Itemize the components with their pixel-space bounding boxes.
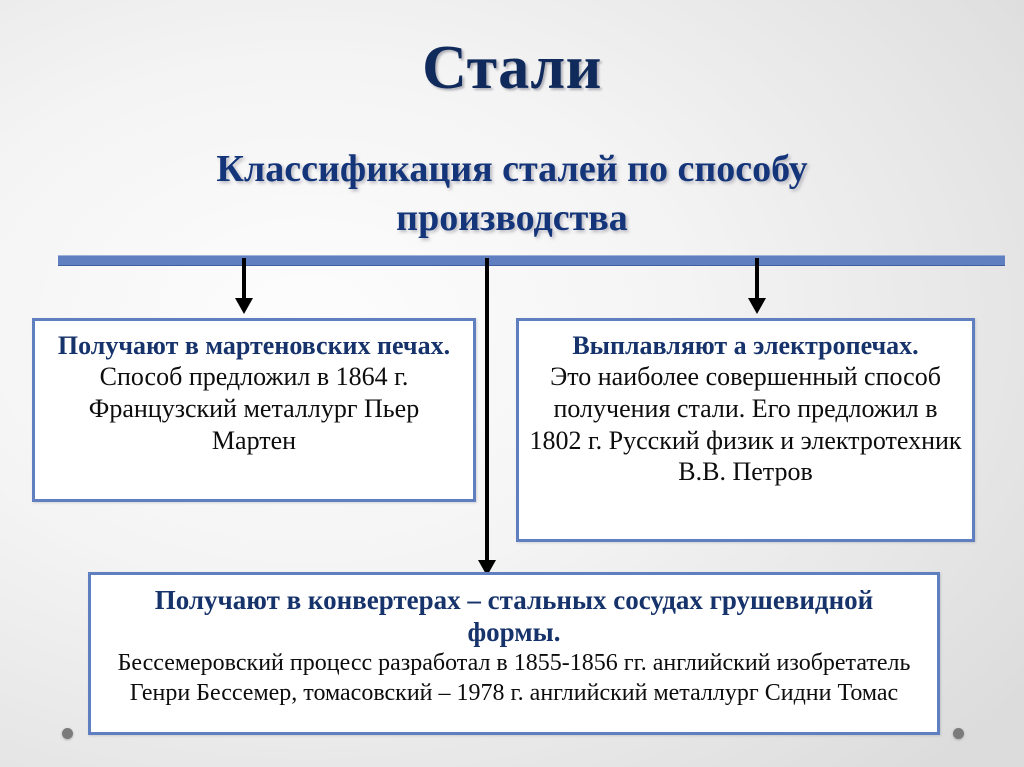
box-heading: Получают в мартеновских печах. [58,330,450,361]
decorative-dot-right [953,728,964,739]
decorative-dot-left [62,728,73,739]
slide-canvas: Стали Классификация сталей по способу пр… [0,0,1024,767]
slide-subtitle: Классификация сталей по способу производ… [120,145,904,242]
diagram-box-open-hearth: Получают в мартеновских печах. Способ пр… [32,318,476,502]
diagram-box-converter: Получают в конвертерах – стальных сосуда… [88,572,940,735]
box-body: Это наиболее совершенный способ получени… [529,361,962,488]
arrow-head [748,298,766,314]
box-body: Способ предложил в 1864 г. Французский м… [45,361,463,456]
box-body: Бессемеровский процесс разработал в 1855… [105,649,923,709]
arrow-shaft [485,258,489,564]
arrow-shaft [242,258,246,302]
diagram-box-electric-furnace: Выплавляют а электропечах. Это наиболее … [516,318,975,542]
horizontal-connector-bar [58,255,1005,266]
box-heading: Выплавляют а электропечах. [572,330,918,361]
arrow-head [235,298,253,314]
box-heading: Получают в конвертерах – стальных сосуда… [105,584,923,649]
arrow-shaft [755,258,759,302]
slide-title: Стали [0,36,1024,101]
